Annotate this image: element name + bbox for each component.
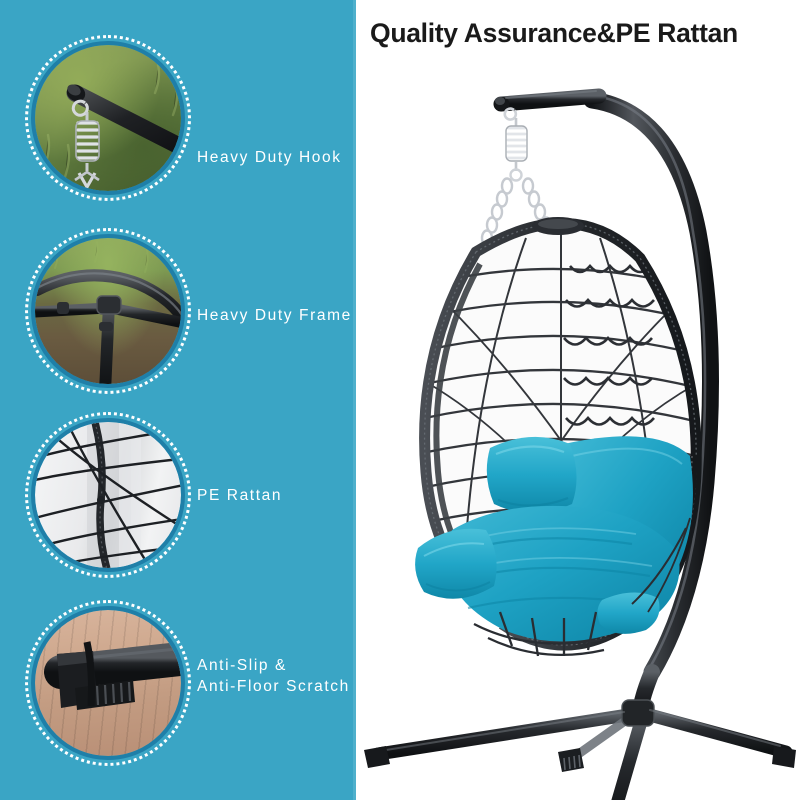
feature-label-anti-slip: Anti-Slip & Anti-Floor Scratch [197,655,350,697]
feature-heavy-duty-frame: Heavy Duty Frame [0,228,353,398]
feature-heavy-duty-hook: Heavy Duty Hook [0,35,353,205]
feature-label-pe-rattan: PE Rattan [197,485,282,506]
circle-dotted-border [25,228,191,394]
infographic-canvas: Heavy Duty Hook [0,0,800,800]
anti-slip-foot [364,746,796,800]
feature-photo-circle [25,412,191,578]
feature-pe-rattan: PE Rattan [0,412,353,582]
feature-label-heavy-duty-frame: Heavy Duty Frame [197,305,352,326]
tension-spring [505,109,527,181]
page-title: Quality Assurance&PE Rattan [370,18,800,49]
feature-photo-circle [25,35,191,201]
feature-label-heavy-duty-hook: Heavy Duty Hook [197,147,342,168]
circle-dotted-border [25,600,191,766]
product-panel: Quality Assurance&PE Rattan [356,0,800,800]
tripod-base [364,672,796,800]
feature-anti-slip: Anti-Slip & Anti-Floor Scratch [0,600,353,770]
head-pillow [487,437,577,513]
feature-photo-circle [25,600,191,766]
circle-dotted-border [25,35,191,201]
feature-photo-circle [25,228,191,394]
circle-dotted-border [25,412,191,578]
hanging-egg-chair-product-photo [356,52,800,800]
